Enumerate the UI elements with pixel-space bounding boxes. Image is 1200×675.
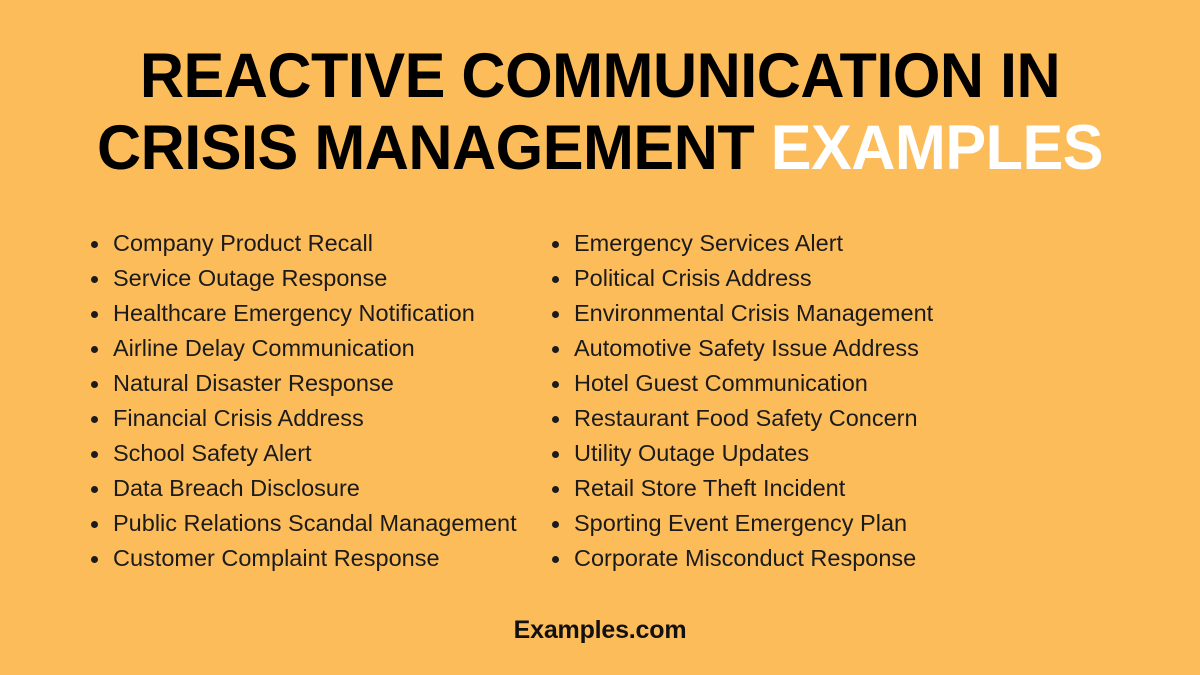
list-item-label: Data Breach Disclosure bbox=[113, 475, 360, 501]
list-item-label: Utility Outage Updates bbox=[574, 440, 809, 466]
brand-watermark: Examples.com bbox=[514, 616, 687, 644]
list-item-label: Environmental Crisis Management bbox=[574, 300, 933, 326]
list-item-label: Healthcare Emergency Notification bbox=[113, 300, 475, 326]
list-item: Corporate Misconduct Response bbox=[546, 541, 1130, 576]
list-item-label: Corporate Misconduct Response bbox=[574, 545, 916, 571]
list-item-label: Sporting Event Emergency Plan bbox=[574, 510, 907, 536]
list-item-label: Restaurant Food Safety Concern bbox=[574, 405, 918, 431]
list-item-label: Airline Delay Communication bbox=[113, 335, 415, 361]
page-title: REACTIVE COMMUNICATION IN CRISIS MANAGEM… bbox=[60, 40, 1140, 184]
list-item: Public Relations Scandal Management bbox=[85, 506, 530, 541]
list-item: Airline Delay Communication bbox=[85, 331, 530, 366]
list-item-label: Emergency Services Alert bbox=[574, 230, 843, 256]
list-item: Customer Complaint Response bbox=[85, 541, 530, 576]
list-item: Company Product Recall bbox=[85, 226, 530, 261]
footer: Examples.com bbox=[0, 615, 1200, 645]
title-highlight-examples: EXAMPLES bbox=[771, 113, 1103, 183]
list-item: School Safety Alert bbox=[85, 436, 530, 471]
list-item-label: Natural Disaster Response bbox=[113, 370, 394, 396]
left-examples-list: Company Product Recall Service Outage Re… bbox=[85, 226, 530, 576]
list-item: Political Crisis Address bbox=[546, 261, 1130, 296]
list-item: Environmental Crisis Management bbox=[546, 296, 1130, 331]
list-item-label: Retail Store Theft Incident bbox=[574, 475, 845, 501]
list-item: Service Outage Response bbox=[85, 261, 530, 296]
list-item: Natural Disaster Response bbox=[85, 366, 530, 401]
list-item: Hotel Guest Communication bbox=[546, 366, 1130, 401]
list-item-label: Hotel Guest Communication bbox=[574, 370, 868, 396]
list-item-label: Automotive Safety Issue Address bbox=[574, 335, 919, 361]
examples-columns: Company Product Recall Service Outage Re… bbox=[0, 226, 1200, 576]
list-item-label: Company Product Recall bbox=[113, 230, 373, 256]
left-column: Company Product Recall Service Outage Re… bbox=[0, 226, 530, 576]
right-column: Emergency Services Alert Political Crisi… bbox=[530, 226, 1130, 576]
list-item: Emergency Services Alert bbox=[546, 226, 1130, 261]
list-item: Automotive Safety Issue Address bbox=[546, 331, 1130, 366]
list-item-label: Political Crisis Address bbox=[574, 265, 812, 291]
title-line-1: REACTIVE COMMUNICATION IN bbox=[76, 40, 1124, 112]
list-item-label: Service Outage Response bbox=[113, 265, 387, 291]
list-item: Healthcare Emergency Notification bbox=[85, 296, 530, 331]
list-item-label: Public Relations Scandal Management bbox=[113, 510, 517, 536]
list-item: Sporting Event Emergency Plan bbox=[546, 506, 1130, 541]
list-item: Data Breach Disclosure bbox=[85, 471, 530, 506]
title-line-2-main: CRISIS MANAGEMENT bbox=[97, 113, 754, 183]
list-item: Utility Outage Updates bbox=[546, 436, 1130, 471]
list-item: Retail Store Theft Incident bbox=[546, 471, 1130, 506]
list-item-label: Financial Crisis Address bbox=[113, 405, 364, 431]
list-item: Restaurant Food Safety Concern bbox=[546, 401, 1130, 436]
poster-canvas: REACTIVE COMMUNICATION IN CRISIS MANAGEM… bbox=[0, 0, 1200, 675]
list-item-label: Customer Complaint Response bbox=[113, 545, 440, 571]
right-examples-list: Emergency Services Alert Political Crisi… bbox=[546, 226, 1130, 576]
list-item-label: School Safety Alert bbox=[113, 440, 312, 466]
list-item: Financial Crisis Address bbox=[85, 401, 530, 436]
title-line-2: CRISIS MANAGEMENT EXAMPLES bbox=[76, 112, 1124, 184]
